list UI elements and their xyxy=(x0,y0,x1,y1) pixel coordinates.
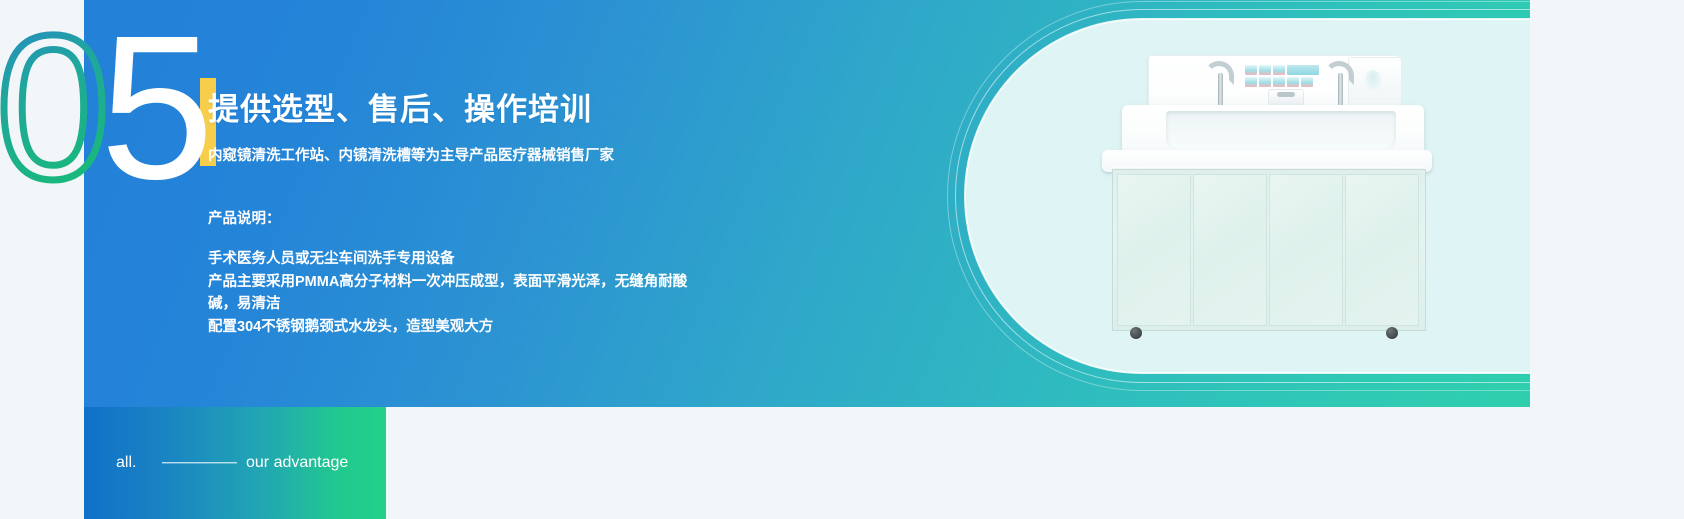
hero-title: 提供选型、售后、操作培训 xyxy=(208,84,592,129)
sign-step-icon xyxy=(1245,65,1257,75)
handwash-instruction-sign xyxy=(1242,62,1330,92)
description-line: 手术医务人员或无尘车间洗手专用设备 xyxy=(208,248,848,271)
cabinet-door xyxy=(1345,174,1419,326)
sink-basin-well xyxy=(1166,111,1396,151)
hand-dryer-panel xyxy=(1348,57,1402,111)
description-line: 配置304不锈钢鹅颈式水龙头，造型美观大方 xyxy=(208,316,848,339)
footer-divider-line xyxy=(162,462,237,463)
product-description-body: 手术医务人员或无尘车间洗手专用设备 产品主要采用PMMA高分子材料一次冲压成型，… xyxy=(208,248,848,338)
cabinet-door xyxy=(1117,174,1191,326)
description-line: 产品主要采用PMMA高分子材料一次冲压成型，表面平滑光泽，无缝角耐酸碱，易清洁 xyxy=(208,271,698,316)
sign-step-icon xyxy=(1245,77,1257,87)
sign-step-icon xyxy=(1273,65,1285,75)
sign-step-icon xyxy=(1287,77,1299,87)
caster-wheel xyxy=(1386,327,1398,339)
footer-bar: all. our advantage xyxy=(84,407,386,519)
sign-step-icon xyxy=(1273,77,1285,87)
sign-step-icon xyxy=(1259,65,1271,75)
slide-number-zero: 0 xyxy=(0,18,110,218)
product-image xyxy=(1090,45,1450,355)
caster-wheel xyxy=(1130,327,1142,339)
sign-step-icon xyxy=(1259,77,1271,87)
sign-title-block xyxy=(1287,65,1319,75)
footer-inner: all. our advantage xyxy=(84,407,386,519)
footer-left-label: all. xyxy=(116,454,136,472)
hero-subtitle: 内窥镜清洗工作站、内镜清洗槽等为主导产品医疗器械销售厂家 xyxy=(208,144,614,165)
sign-step-icon xyxy=(1301,77,1313,87)
hero-content: 提供选型、售后、操作培训 内窥镜清洗工作站、内镜清洗槽等为主导产品医疗器械销售厂… xyxy=(200,0,820,407)
slide-number: 0 5 xyxy=(0,18,230,218)
cabinet-door xyxy=(1269,174,1343,326)
slide-canvas: 0 5 提供选型、售后、操作培训 内窥镜清洗工作站、内镜清洗槽等为主导产品医疗器… xyxy=(0,0,1684,519)
cabinet-door xyxy=(1193,174,1267,326)
cabinet-body xyxy=(1112,169,1426,331)
bottom-margin-strip xyxy=(386,407,1684,519)
slide-number-five: 5 xyxy=(100,18,214,218)
footer-right-label: our advantage xyxy=(246,454,348,472)
